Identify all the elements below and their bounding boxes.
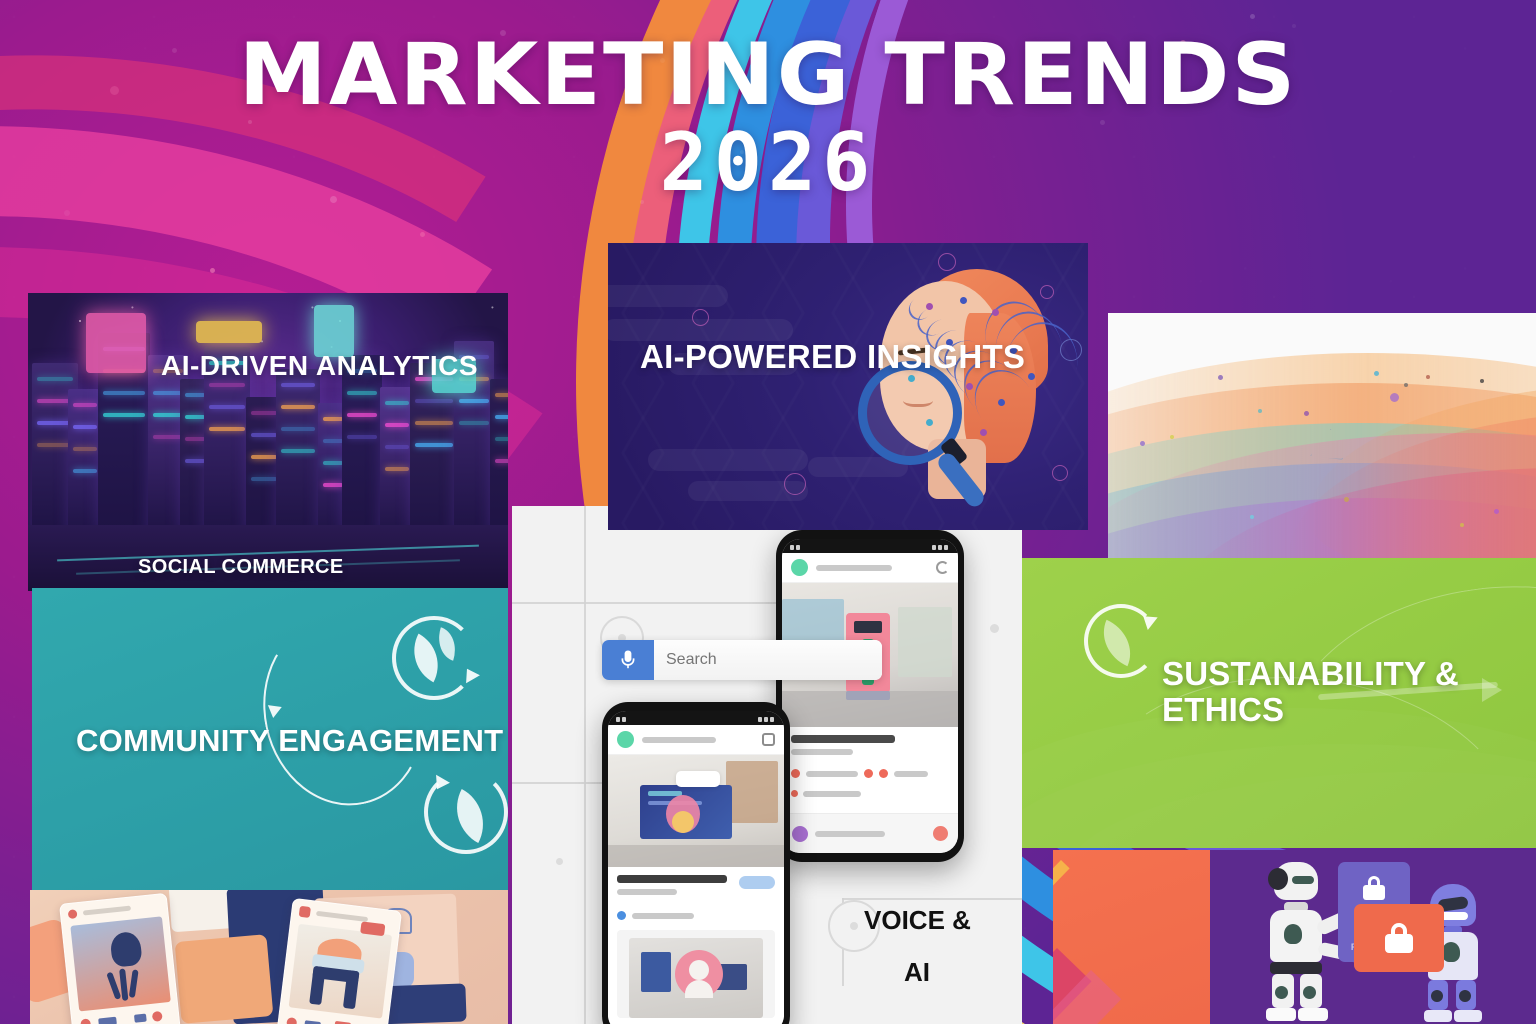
app-title-blur	[816, 565, 892, 571]
avatar	[791, 559, 808, 576]
phone-mockup-front[interactable]	[602, 702, 790, 1024]
phone-status-bar	[782, 539, 958, 553]
social-card[interactable]	[59, 893, 181, 1024]
lock-icon	[1363, 876, 1385, 900]
refresh-icon[interactable]	[936, 561, 949, 574]
assistant-icon[interactable]	[792, 826, 808, 842]
action-icon[interactable]	[933, 826, 948, 841]
card-title-blur	[617, 875, 727, 883]
panel-color-waves[interactable]	[1108, 313, 1536, 561]
poster-canvas: MARKETING TRENDS 2026 AI-DRIVEN ANALYTIC…	[0, 0, 1536, 1024]
panel-orange-strip	[1053, 850, 1210, 1024]
label-community-engagement: COMMUNITY ENGAGEMENT	[76, 724, 503, 757]
panel-sustainability-ethics[interactable]: SUSTANABILITY & ETHICS	[1022, 558, 1536, 848]
card-subtitle-blur	[617, 889, 677, 895]
leaf-recycle-icon	[424, 770, 508, 854]
privacy-lock-card-front[interactable]	[1354, 904, 1444, 972]
phone-screen-front[interactable]	[608, 711, 784, 1024]
cta-button[interactable]	[739, 876, 775, 889]
label-ai-driven-analytics: AI-DRIVEN ANALYTICS	[161, 351, 478, 381]
avatar	[617, 731, 634, 748]
panel-community-engagement[interactable]: COMMUNITY ENGAGEMENT	[32, 588, 508, 890]
card-subtitle-blur	[791, 749, 853, 755]
leaf-recycle-icon	[1084, 604, 1158, 678]
social-card[interactable]	[276, 898, 402, 1024]
search-input[interactable]	[654, 640, 882, 680]
lock-icon	[1385, 923, 1413, 953]
phone-status-bar	[608, 711, 784, 725]
phone-content-back	[782, 727, 958, 805]
phone-content-front	[608, 867, 784, 1024]
voice-search-bar[interactable]	[602, 640, 882, 680]
curved-arrow-head	[266, 705, 282, 719]
phone-mockup-back[interactable]	[776, 530, 964, 862]
app-title-blur	[642, 737, 716, 743]
phone-app-bar	[782, 553, 958, 583]
label-ai-powered-insights: AI-POWERED INSIGHTS	[640, 339, 1025, 375]
panel-ai-driven-analytics[interactable]: AI-DRIVEN ANALYTICS SOCIAL COMMERCE	[28, 293, 508, 591]
panel-voice-and-ai[interactable]: VOICE & AI	[512, 506, 1022, 1024]
phone-screen-back[interactable]	[782, 539, 958, 853]
ar-photo-front	[608, 755, 784, 867]
label-ai: AI	[904, 958, 930, 986]
label-voice-and: VOICE &	[864, 906, 971, 934]
leaf-recycle-icon	[392, 616, 476, 700]
panel-ai-powered-insights[interactable]: AI-POWERED INSIGHTS	[608, 243, 1088, 530]
phone-bottom-bar-back[interactable]	[782, 813, 958, 853]
settings-icon[interactable]	[762, 733, 775, 746]
label-social-commerce: SOCIAL COMMERCE	[138, 557, 344, 579]
label-sustainability-ethics: SUSTANABILITY & ETHICS	[1162, 656, 1536, 727]
phone-app-bar	[608, 725, 784, 755]
panel-robot-privacy[interactable]: PRIVACY	[1210, 850, 1536, 1024]
panel-social-media-cards[interactable]	[30, 890, 508, 1024]
microphone-icon[interactable]	[602, 640, 654, 680]
robot-left	[1256, 862, 1348, 1024]
card-title-blur	[791, 735, 895, 743]
